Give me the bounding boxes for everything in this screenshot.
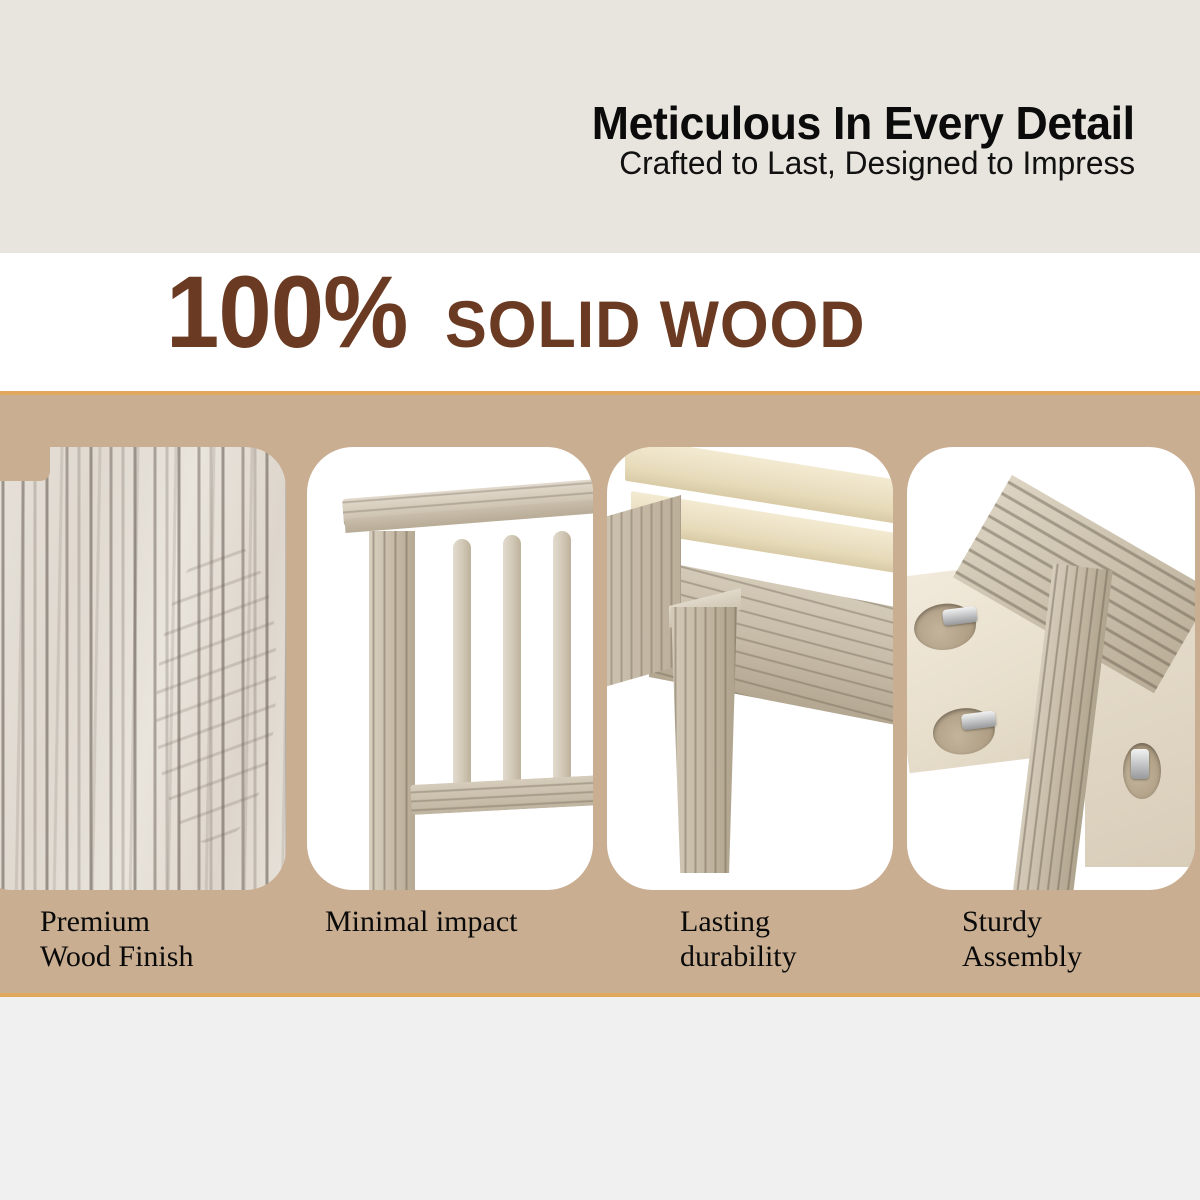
bolt-joinery-image	[907, 447, 1195, 890]
wood-knot-figure	[156, 543, 276, 843]
material-label: SOLID WOOD	[445, 291, 866, 357]
percent-value: 100%	[166, 261, 407, 363]
wood-grain-swatch-image	[0, 447, 286, 890]
headboard-spindle	[453, 539, 471, 795]
feature-caption-premium-wood-finish: Premium Wood Finish	[40, 904, 193, 975]
headboard-spindle	[503, 535, 521, 793]
bed-end-rail	[607, 495, 681, 686]
page-title: Meticulous In Every Detail	[592, 96, 1135, 150]
headboard-spindle	[553, 531, 571, 791]
hex-bolt-icon	[1131, 749, 1149, 779]
header-band: Meticulous In Every Detail Crafted to La…	[0, 0, 1200, 253]
infographic-page: Meticulous In Every Detail Crafted to La…	[0, 0, 1200, 1200]
feature-card-premium-wood-finish	[0, 447, 286, 890]
feature-card-minimal-impact	[307, 447, 593, 890]
page-subtitle: Crafted to Last, Designed to Impress	[619, 145, 1135, 182]
bed-leg	[671, 607, 737, 873]
feature-card-row: Premium Wood Finish Minimal impact Lasti…	[0, 395, 1200, 1001]
headboard-bottom-rail	[410, 775, 593, 815]
banner-text-group: 100% SOLID WOOD	[166, 261, 888, 363]
feature-caption-sturdy-assembly: Sturdy Assembly	[962, 904, 1082, 975]
headboard-spindles-image	[307, 447, 593, 890]
feature-caption-minimal-impact: Minimal impact	[325, 904, 517, 939]
bed-frame-corner-image	[607, 447, 893, 890]
feature-caption-lasting-durability: Lasting durability	[680, 904, 797, 975]
swatch-corner-notch	[0, 447, 50, 481]
feature-card-lasting-durability	[607, 447, 893, 890]
headboard-post	[369, 531, 415, 890]
feature-card-sturdy-assembly	[907, 447, 1195, 890]
solid-wood-banner: 100% SOLID WOOD	[0, 253, 1200, 391]
feature-band: Premium Wood Finish Minimal impact Lasti…	[0, 391, 1200, 997]
